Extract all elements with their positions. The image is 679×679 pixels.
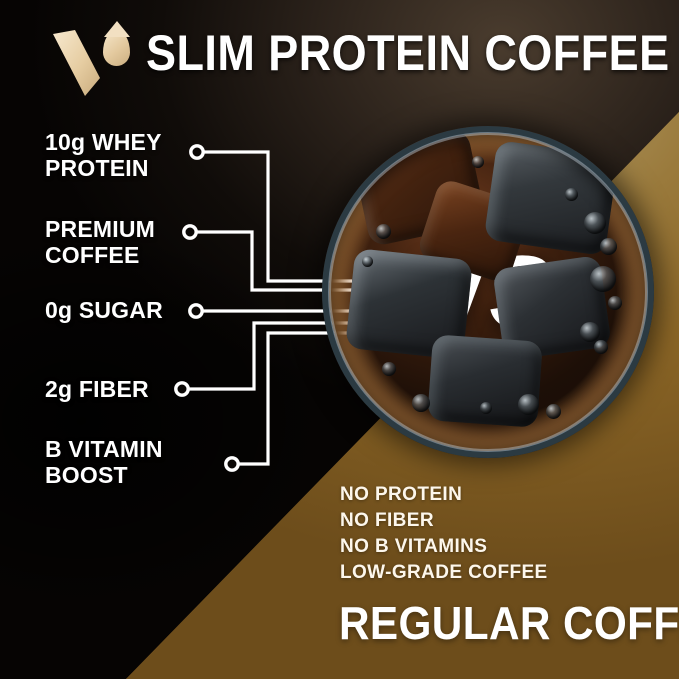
product-image [322,126,654,458]
glass-rim-highlight [328,132,648,452]
con-item-low-grade-coffee: LOW-GRADE COFFEE [340,560,548,586]
feature-item-sugar: 0g SUGAR [45,297,163,323]
feature-item-fiber: 2g FIBER [45,376,149,402]
cons-list: NO PROTEIN NO FIBER NO B VITAMINS LOW-GR… [340,482,548,586]
regular-coffee-title: REGULAR COFFEE [339,600,679,646]
feature-item-whey-protein: 10g WHEY PROTEIN [45,129,162,181]
connector-dot-5 [226,458,238,470]
comparison-infographic: SLIM PROTEIN COFFEE 10g WHEY PROTEIN PRE… [0,0,679,679]
con-item-no-fiber: NO FIBER [340,508,548,534]
connector-dot-3 [190,305,202,317]
con-item-no-protein: NO PROTEIN [340,482,548,508]
connector-dot-4 [176,383,188,395]
feature-item-b-vitamin-boost: B VITAMIN BOOST [45,436,163,488]
connector-dot-1 [191,146,203,158]
con-item-no-b-vitamins: NO B VITAMINS [340,534,548,560]
feature-item-premium-coffee: PREMIUM COFFEE [45,216,155,268]
connector-dot-2 [184,226,196,238]
